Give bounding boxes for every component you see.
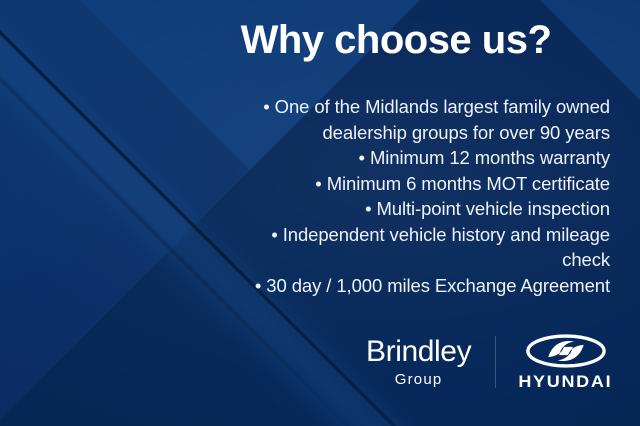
logo-divider (495, 336, 496, 388)
list-item: • Multi-point vehicle inspection (220, 196, 610, 222)
brindley-group-logo: Brindley Group (366, 337, 479, 387)
list-item: • Independent vehicle history and mileag… (220, 222, 610, 273)
page-title: Why choose us? (186, 18, 606, 62)
hyundai-logo: HYUNDAI (511, 334, 610, 390)
logo-row: Brindley Group HYUNDAI (366, 326, 610, 398)
hyundai-emblem-icon (524, 334, 608, 368)
brindley-wordmark: Brindley (366, 337, 471, 367)
promo-banner: Why choose us? • One of the Midlands lar… (0, 0, 640, 426)
benefits-list: • One of the Midlands largest family own… (220, 94, 610, 298)
list-item: • Minimum 12 months warranty (220, 145, 610, 171)
list-item: • Minimum 6 months MOT certificate (220, 171, 610, 197)
brindley-subtitle: Group (395, 372, 443, 387)
list-item: • One of the Midlands largest family own… (220, 94, 610, 145)
banner-content: Why choose us? • One of the Midlands lar… (0, 0, 640, 426)
hyundai-wordmark: HYUNDAI (519, 373, 613, 390)
list-item: • 30 day / 1,000 miles Exchange Agreemen… (220, 273, 610, 299)
